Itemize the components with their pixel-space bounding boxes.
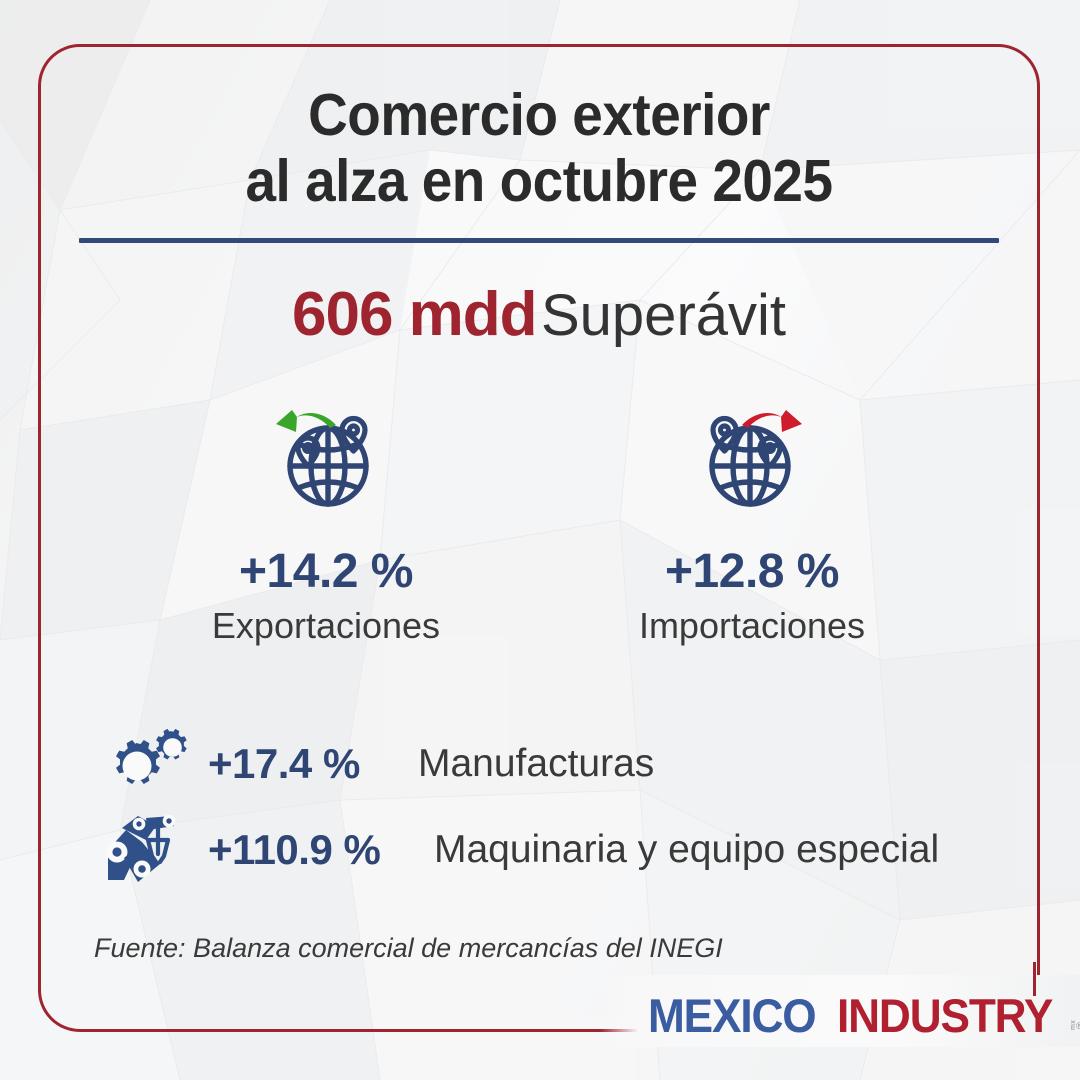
- infographic-content: Comercio exterior al alza en octubre 202…: [38, 44, 1040, 1032]
- title-divider: [79, 238, 999, 243]
- stat-row-maquinaria: +110.9 % Maquinaria y equipo especial: [98, 807, 1040, 893]
- logo-registered-icon: ®: [1076, 1021, 1080, 1031]
- mexico-industry-logo: MEXICO INDUSTRY mx ®: [648, 988, 1080, 1043]
- maquinaria-label: Maquinaria y equipo especial: [434, 828, 939, 872]
- page-title: Comercio exterior al alza en octubre 202…: [73, 82, 1005, 214]
- gears-icon: [98, 727, 208, 801]
- globe-import-icon: [627, 396, 877, 514]
- stat-importaciones: +12.8 % Importaciones: [627, 396, 877, 647]
- title-line-2: al alza en octubre 2025: [73, 148, 1005, 214]
- importaciones-percent: +12.8 %: [627, 544, 877, 599]
- manufacturas-label: Manufacturas: [418, 742, 654, 786]
- surplus-label: Superávit: [541, 283, 786, 348]
- stat-exportaciones: +14.2 % Exportaciones: [201, 396, 451, 647]
- globe-export-icon: [201, 396, 451, 514]
- logo-industry-text: INDUSTRY: [837, 988, 1052, 1043]
- category-stats-group: +17.4 % Manufacturas: [38, 721, 1040, 893]
- source-note: Fuente: Balanza comercial de mercancías …: [38, 933, 1040, 964]
- exportaciones-caption: Exportaciones: [201, 605, 451, 647]
- robot-arm-icon: [98, 812, 208, 888]
- logo-trademark: mx ®: [1068, 990, 1080, 1032]
- title-line-1: Comercio exterior: [73, 82, 1005, 148]
- headline: 606 mdd Superávit: [38, 279, 1040, 350]
- importaciones-caption: Importaciones: [627, 605, 877, 647]
- surplus-value: 606 mdd: [292, 280, 537, 349]
- exportaciones-percent: +14.2 %: [201, 544, 451, 599]
- manufacturas-value: +17.4 %: [208, 740, 388, 788]
- maquinaria-value: +110.9 %: [208, 826, 426, 874]
- logo-mexico-text: MEXICO: [648, 988, 816, 1043]
- stat-row-manufacturas: +17.4 % Manufacturas: [98, 721, 1040, 807]
- globe-stats-group: +14.2 % Exportaciones: [38, 396, 1040, 647]
